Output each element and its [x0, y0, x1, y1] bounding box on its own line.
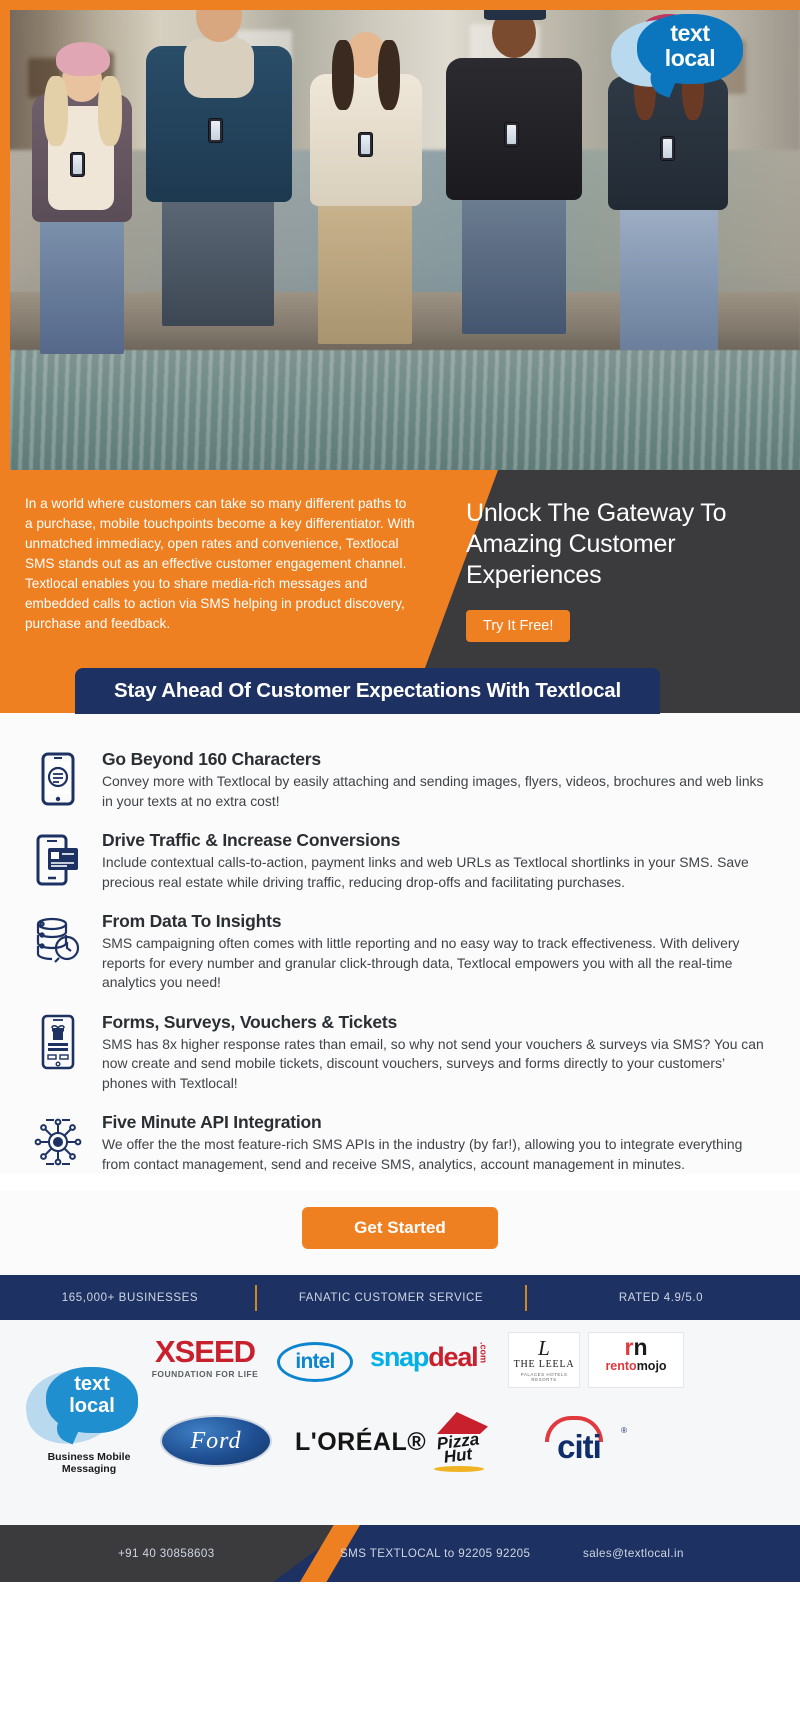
hero-water	[0, 350, 800, 470]
feature-title: Forms, Surveys, Vouchers & Tickets	[102, 1012, 770, 1033]
get-started-cta-wrapper: Get Started	[0, 1191, 800, 1275]
brand-tagline: Business Mobile Messaging	[22, 1451, 156, 1475]
api-chip-icon	[30, 1110, 86, 1170]
feature-body: Five Minute API Integration We offer the…	[102, 1110, 770, 1174]
snapdeal-part1: snap	[370, 1342, 428, 1373]
xseed-tagline: FOUNDATION FOR LIFE	[150, 1369, 260, 1379]
loreal-logo: L'ORÉAL®	[295, 1428, 426, 1457]
rentomojo-mark: rn	[589, 1336, 683, 1359]
get-started-button[interactable]: Get Started	[302, 1207, 498, 1249]
hero-banner: text local	[0, 0, 800, 470]
logo-text-line2: local	[637, 46, 743, 71]
stats-strip: 165,000+ BUSINESSES FANATIC CUSTOMER SER…	[0, 1275, 800, 1320]
rentomojo-logo: rn rentomojo	[588, 1332, 684, 1388]
badge-logo-text: text local	[46, 1373, 138, 1417]
snapdeal-part2: deal	[428, 1342, 477, 1373]
feature-item: Five Minute API Integration We offer the…	[30, 1110, 770, 1174]
feature-text: Include contextual calls-to-action, paym…	[102, 853, 770, 892]
hero-left-accent-stripe	[0, 0, 10, 470]
rentomojo-word2: mojo	[637, 1359, 667, 1373]
feature-title: Five Minute API Integration	[102, 1112, 770, 1133]
citi-registered-mark: ®	[621, 1426, 627, 1435]
hero-top-accent-stripe	[0, 0, 800, 10]
leela-monogram: L	[509, 1337, 579, 1359]
client-logo-wall: text local Business Mobile Messaging XSE…	[0, 1320, 800, 1525]
intel-logo: intel	[277, 1342, 353, 1382]
logo-text: text local	[637, 21, 743, 71]
feature-text: Convey more with Textlocal by easily att…	[102, 772, 770, 811]
rentomojo-word1: rento	[605, 1359, 636, 1373]
phone-gift-icon	[30, 1010, 86, 1070]
intro-paragraph: In a world where customers can take so m…	[25, 494, 415, 634]
badge-text-line2: local	[46, 1395, 138, 1417]
feature-body: Drive Traffic & Increase Conversions Inc…	[102, 828, 770, 892]
feature-body: Forms, Surveys, Vouchers & Tickets SMS h…	[102, 1010, 770, 1094]
person-2	[140, 0, 300, 352]
intro-right-panel: Unlock The Gateway To Amazing Customer E…	[466, 498, 776, 642]
ford-logo: Ford	[160, 1415, 272, 1467]
xseed-logo: XSEED FOUNDATION FOR LIFE	[150, 1336, 260, 1379]
database-clock-icon	[30, 909, 86, 969]
feature-title: From Data To Insights	[102, 911, 770, 932]
feature-title: Drive Traffic & Increase Conversions	[102, 830, 770, 851]
intel-wordmark: intel	[277, 1342, 353, 1382]
pizza-hut-logo: Pizza Hut	[424, 1412, 492, 1474]
citi-wordmark: citi	[525, 1428, 633, 1466]
badge-text-line1: text	[46, 1373, 138, 1395]
footer-bar: +91 40 30858603 SMS TEXTLOCAL to 92205 9…	[0, 1525, 800, 1582]
section-ribbon-title: Stay Ahead Of Customer Expectations With…	[75, 668, 660, 714]
snapdeal-logo: snap deal .com	[370, 1342, 488, 1373]
feature-text: We offer the the most feature-rich SMS A…	[102, 1135, 770, 1174]
feature-item: Go Beyond 160 Characters Convey more wit…	[30, 747, 770, 811]
footer-email[interactable]: sales@textlocal.in	[583, 1525, 684, 1582]
feature-text: SMS campaigning often comes with little …	[102, 934, 770, 993]
phone-card-icon	[30, 828, 86, 888]
feature-item: From Data To Insights SMS campaigning of…	[30, 909, 770, 993]
features-list: Go Beyond 160 Characters Convey more wit…	[0, 713, 800, 1174]
person-4	[440, 0, 590, 352]
logo-text-line1: text	[637, 21, 743, 46]
intro-headline: Unlock The Gateway To Amazing Customer E…	[466, 498, 776, 591]
textlocal-logo[interactable]: text local	[633, 14, 743, 92]
feature-item: Drive Traffic & Increase Conversions Inc…	[30, 828, 770, 892]
rentomojo-wordmark: rentomojo	[589, 1359, 683, 1373]
footer-sms-keyword: SMS TEXTLOCAL to 92205 92205	[340, 1525, 530, 1582]
person-3	[302, 0, 432, 352]
footer-phone[interactable]: +91 40 30858603	[118, 1525, 215, 1582]
stat-rating: RATED 4.9/5.0	[527, 1292, 795, 1304]
stat-businesses: 165,000+ BUSINESSES	[5, 1292, 255, 1304]
pizza-hut-swoosh	[434, 1466, 484, 1472]
rentomojo-mark-n: n	[633, 1334, 647, 1360]
xseed-wordmark: XSEED	[150, 1336, 260, 1368]
phone-message-icon	[30, 747, 86, 807]
stat-customer-service: FANATIC CUSTOMER SERVICE	[257, 1292, 525, 1304]
feature-body: Go Beyond 160 Characters Convey more wit…	[102, 747, 770, 811]
leela-wordmark: THE LEELA	[509, 1359, 579, 1370]
feature-item: Forms, Surveys, Vouchers & Tickets SMS h…	[30, 1010, 770, 1094]
the-leela-logo: L THE LEELA PALACES HOTELS RESORTS	[508, 1332, 580, 1388]
ford-wordmark: Ford	[160, 1415, 272, 1467]
try-it-free-button[interactable]: Try It Free!	[466, 610, 570, 642]
feature-title: Go Beyond 160 Characters	[102, 749, 770, 770]
snapdeal-part3: .com	[478, 1342, 488, 1363]
feature-text: SMS has 8x higher response rates than em…	[102, 1035, 770, 1094]
person-1	[24, 2, 144, 352]
citi-logo: citi ®	[525, 1416, 633, 1470]
leela-tagline: PALACES HOTELS RESORTS	[509, 1372, 579, 1382]
feature-body: From Data To Insights SMS campaigning of…	[102, 909, 770, 993]
